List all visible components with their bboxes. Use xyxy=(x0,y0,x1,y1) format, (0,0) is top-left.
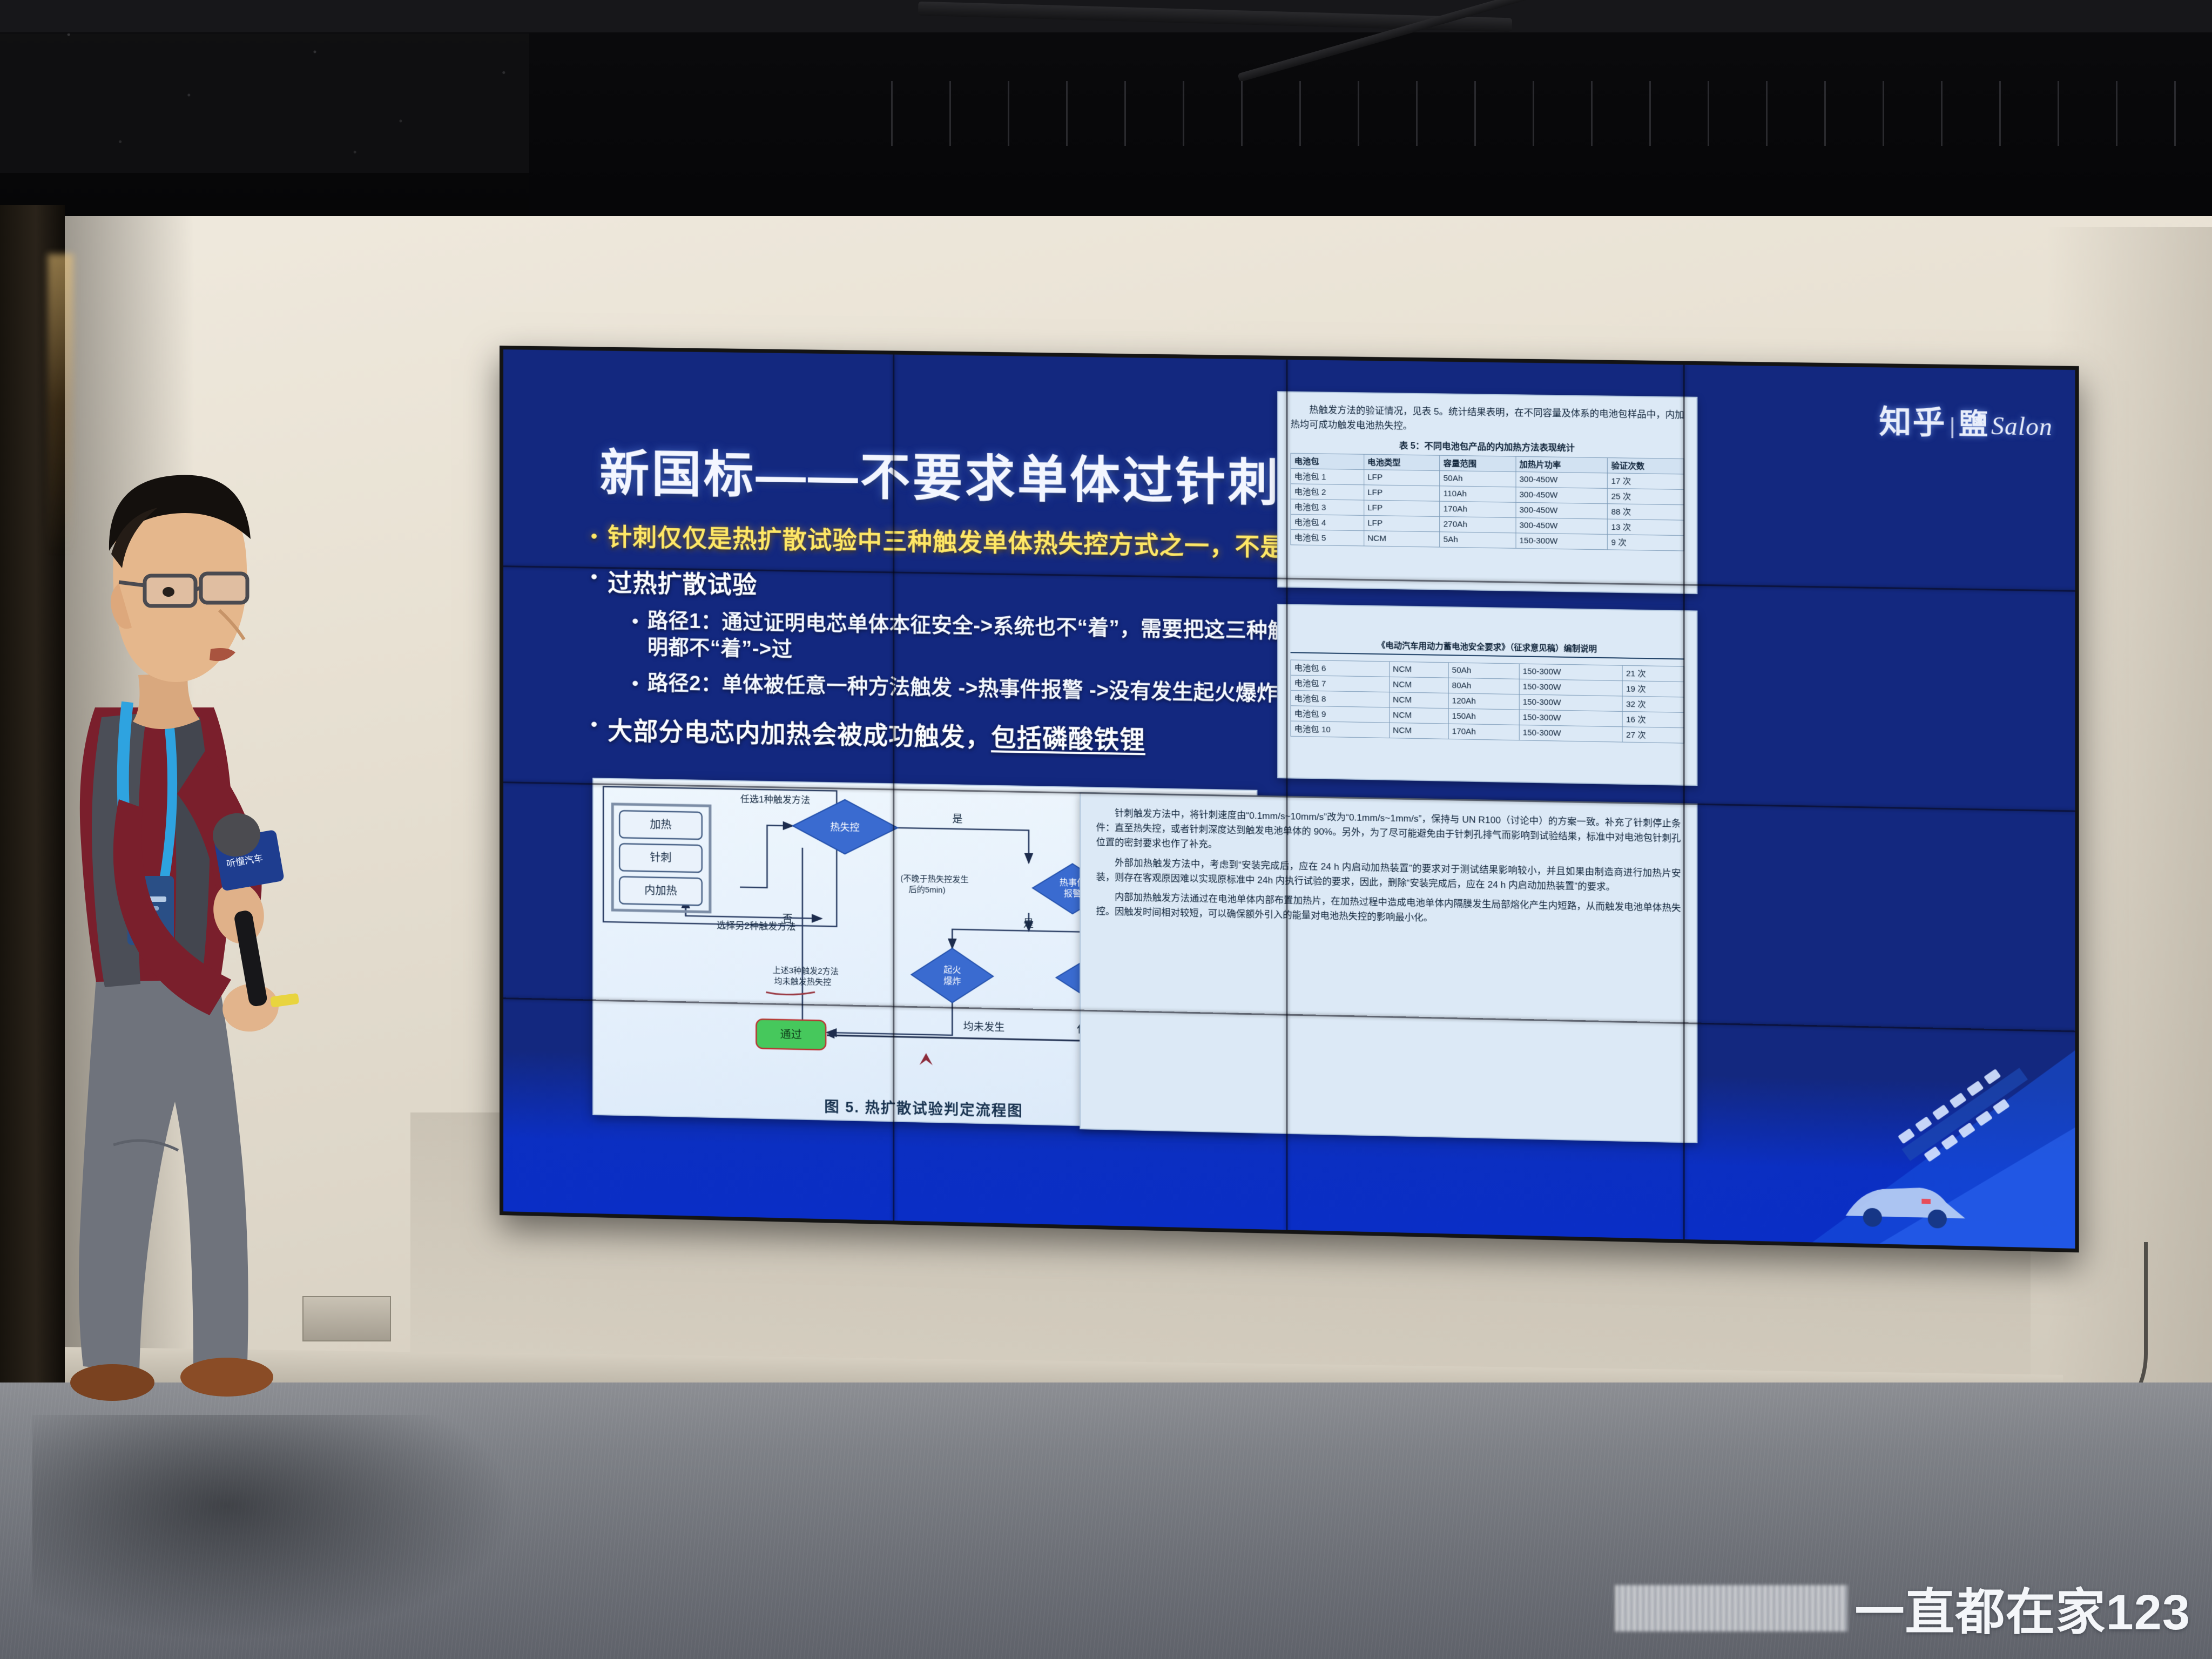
bullet-marker-icon: • xyxy=(591,711,598,746)
flow-caret-icon xyxy=(920,1053,933,1065)
cell-type: NCM xyxy=(1390,662,1448,678)
document-card-paragraphs: 针刺触发方法中，将针刺速度由“0.1mm/s~10mm/s”改为“0.1mm/s… xyxy=(1080,792,1697,1143)
cell-capacity: 5Ah xyxy=(1440,532,1516,548)
cell-power: 300-450W xyxy=(1516,487,1608,504)
cell-count: 16 次 xyxy=(1622,711,1684,727)
flow-note-5min-a: (不晚于热失控发生 xyxy=(900,874,968,885)
doc-c-paragraph-1: 针刺触发方法中，将针刺速度由“0.1mm/s~10mm/s”改为“0.1mm/s… xyxy=(1096,805,1681,861)
logo-zhihu-text: 知乎 xyxy=(1879,396,1946,443)
cell-type: NCM xyxy=(1390,677,1448,693)
cell-count: 17 次 xyxy=(1608,473,1684,489)
th-pack: 电池包 xyxy=(1291,454,1364,470)
doc-c-paragraph-3: 内部加热触发方法通过在电池单体内部布置加热片，在加热过程中造成电池单体内隔膜发生… xyxy=(1096,889,1681,930)
doc-a-intro: 热触发方法的验证情况，见表 5。统计结果表明，在不同容量及体系的电池包样品中，内… xyxy=(1291,402,1684,437)
cell-capacity: 170Ah xyxy=(1448,724,1519,740)
cell-power: 150-300W xyxy=(1516,533,1608,550)
cell-pack: 电池包 8 xyxy=(1291,690,1389,707)
bullet-marker-icon: • xyxy=(591,523,598,552)
cell-power: 150-300W xyxy=(1519,679,1622,696)
flow-trigger-boxes: 加热 针刺 内加热 xyxy=(619,811,702,905)
cell-capacity: 50Ah xyxy=(1440,471,1516,487)
cell-pack: 电池包 3 xyxy=(1291,499,1364,515)
cell-count: 9 次 xyxy=(1608,535,1684,551)
presenter-trousers xyxy=(79,976,248,1372)
final-bullet-underlined: 包括磷酸铁锂 xyxy=(991,723,1145,754)
cell-power: 150-300W xyxy=(1519,725,1622,742)
flow-note-select1: 任选1种触发方法 xyxy=(740,794,810,805)
document-card-table-continued: 《电动汽车用动力蓄电池安全要求》（征求意见稿）编制说明 电池包 6NCM50Ah… xyxy=(1277,604,1697,786)
watermark: 一直都在家123 xyxy=(1615,1572,2191,1644)
cell-power: 300-450W xyxy=(1516,472,1608,489)
cell-pack: 电池包 10 xyxy=(1291,721,1389,738)
bullet-text: 针刺仅仅是热扩散试验中三种触发单体热失控方式之一，不是必过项 xyxy=(608,523,1361,564)
cell-pack: 电池包 4 xyxy=(1291,515,1364,531)
flow-node-pass: 通过 xyxy=(780,1028,802,1041)
ceiling-grid-rails xyxy=(891,81,2212,146)
cell-capacity: 170Ah xyxy=(1440,502,1516,518)
flow-edge-no-1: 否 xyxy=(783,913,793,925)
cell-count: 27 次 xyxy=(1622,727,1684,743)
cell-type: LFP xyxy=(1364,516,1440,532)
cell-type: NCM xyxy=(1390,707,1448,724)
th-capacity: 容量范围 xyxy=(1440,456,1516,472)
document-card-table5: 热触发方法的验证情况，见表 5。统计结果表明，在不同容量及体系的电池包样品中，内… xyxy=(1277,391,1697,594)
table-5-continued: 电池包 6NCM50Ah150-300W21 次 电池包 7NCM80Ah150… xyxy=(1291,659,1684,743)
flow-note-3methods-a: 上述3种触发2方法 xyxy=(772,966,838,976)
flow-trigger-3: 内加热 xyxy=(644,884,677,897)
cell-capacity: 270Ah xyxy=(1440,517,1516,533)
cell-pack: 电池包 1 xyxy=(1291,469,1364,485)
presenter-mouth xyxy=(210,648,235,661)
panel-seam-vertical xyxy=(1683,365,1685,1239)
flow-note-3methods-b: 均未触发热失控 xyxy=(774,977,832,987)
presenter-floor-shadow xyxy=(32,1415,518,1642)
presenter-shoe-left xyxy=(70,1364,154,1401)
presenter-speaker: 听懂汽车 xyxy=(32,448,421,1420)
cell-capacity: 80Ah xyxy=(1448,678,1519,694)
cell-type: LFP xyxy=(1364,485,1440,501)
table-5: 电池包 电池类型 容量范围 加热片功率 验证次数 电池包 1LFP50Ah300… xyxy=(1291,453,1684,551)
logo-yan-text: 鹽 xyxy=(1959,401,1988,442)
th-power: 加热片功率 xyxy=(1516,457,1608,474)
final-bullet-text: 大部分电芯内加热会被成功触发，包括磷酸铁锂 xyxy=(608,711,1145,756)
logo-divider: | xyxy=(1950,414,1955,439)
flow-note-5min-b: 后的5min) xyxy=(909,885,946,895)
presenter-neck xyxy=(133,673,200,729)
slide-title: 新国标——不要求单体过针刺！ xyxy=(599,433,1333,516)
th-type: 电池类型 xyxy=(1364,455,1440,471)
cell-capacity: 110Ah xyxy=(1440,486,1516,502)
cell-pack: 电池包 9 xyxy=(1291,706,1389,723)
doc-b-running-head: 《电动汽车用动力蓄电池安全要求》（征求意见稿）编制说明 xyxy=(1291,638,1684,659)
cell-type: NCM xyxy=(1364,531,1440,547)
cell-capacity: 50Ah xyxy=(1448,663,1519,679)
flow-edge-none-occurred: 均未发生 xyxy=(963,1021,1005,1034)
logo-salon-text: Salon xyxy=(1991,411,2053,441)
cell-pack: 电池包 7 xyxy=(1291,675,1389,692)
cell-capacity: 150Ah xyxy=(1448,709,1519,725)
flow-node-fire-2: 爆炸 xyxy=(943,976,961,987)
cell-type: NCM xyxy=(1390,723,1448,739)
flow-trigger-1: 加热 xyxy=(650,818,671,831)
flow-edge-yes-1: 是 xyxy=(952,814,962,825)
flow-edge-yes-2: 是 xyxy=(1023,918,1034,930)
cell-type: LFP xyxy=(1364,470,1440,486)
presenter-shoe-right xyxy=(180,1358,273,1397)
presenter-eye xyxy=(163,587,174,597)
cell-power: 300-450W xyxy=(1516,503,1608,520)
led-video-wall[interactable]: 知乎 | 鹽 Salon 新国标——不要求单体过针刺！ • 针刺仅仅是热扩散试验… xyxy=(500,346,2079,1252)
presentation-slide: 知乎 | 鹽 Salon 新国标——不要求单体过针刺！ • 针刺仅仅是热扩散试验… xyxy=(503,349,2075,1249)
cell-power: 150-300W xyxy=(1519,694,1622,712)
final-bullet-lead: 大部分电芯内加热会被成功触发， xyxy=(608,716,991,751)
cell-pack: 电池包 5 xyxy=(1291,530,1364,546)
cell-type: NCM xyxy=(1390,692,1448,709)
cell-type: LFP xyxy=(1364,500,1440,516)
cell-pack: 电池包 6 xyxy=(1291,660,1389,677)
cell-count: 13 次 xyxy=(1608,519,1684,536)
flow-node-fire-1: 起火 xyxy=(943,965,961,975)
sub-bullet-text: 路径2：单体被任意一种方法触发 ->热事件报警 ->没有发生起火爆炸 ->过 xyxy=(648,670,1325,709)
panel-seam-vertical xyxy=(1286,360,1287,1230)
photo-scene: 知乎 | 鹽 Salon 新国标——不要求单体过针刺！ • 针刺仅仅是热扩散试验… xyxy=(0,0,2212,1659)
th-count: 验证次数 xyxy=(1608,458,1684,474)
cell-power: 300-450W xyxy=(1516,518,1608,535)
cell-count: 32 次 xyxy=(1622,696,1684,712)
doc-c-paragraph-2: 外部加热触发方法中，考虑到“安装完成后，应在 24 h 内启动加热装置”的要求对… xyxy=(1096,855,1681,896)
cell-pack: 电池包 2 xyxy=(1291,484,1364,500)
cell-count: 25 次 xyxy=(1608,489,1684,505)
flow-trigger-2: 针刺 xyxy=(650,851,671,864)
zipper-car-decoration xyxy=(1812,957,2075,1249)
panel-seam-vertical xyxy=(893,354,894,1220)
cell-count: 88 次 xyxy=(1608,504,1684,520)
cell-capacity: 120Ah xyxy=(1448,693,1519,710)
watermark-blurred-block xyxy=(1615,1585,1847,1631)
cell-power: 150-300W xyxy=(1519,664,1622,681)
flow-node-alarm-2: 报警 xyxy=(1064,888,1081,899)
cell-count: 19 次 xyxy=(1622,681,1684,697)
watermark-username: 一直都在家123 xyxy=(1855,1572,2191,1644)
sub-bullet-marker-icon: • xyxy=(632,670,638,697)
doc-a-table-title: 表 5：不同电池包产品的内加热方法表现统计 xyxy=(1291,437,1684,456)
flow-node-thermal-runaway: 热失控 xyxy=(830,821,859,833)
zhihu-salon-logo: 知乎 | 鹽 Salon xyxy=(1879,396,2052,444)
cell-power: 150-300W xyxy=(1519,710,1622,727)
sub-bullet-marker-icon: • xyxy=(632,608,638,661)
cell-count: 21 次 xyxy=(1622,665,1684,682)
